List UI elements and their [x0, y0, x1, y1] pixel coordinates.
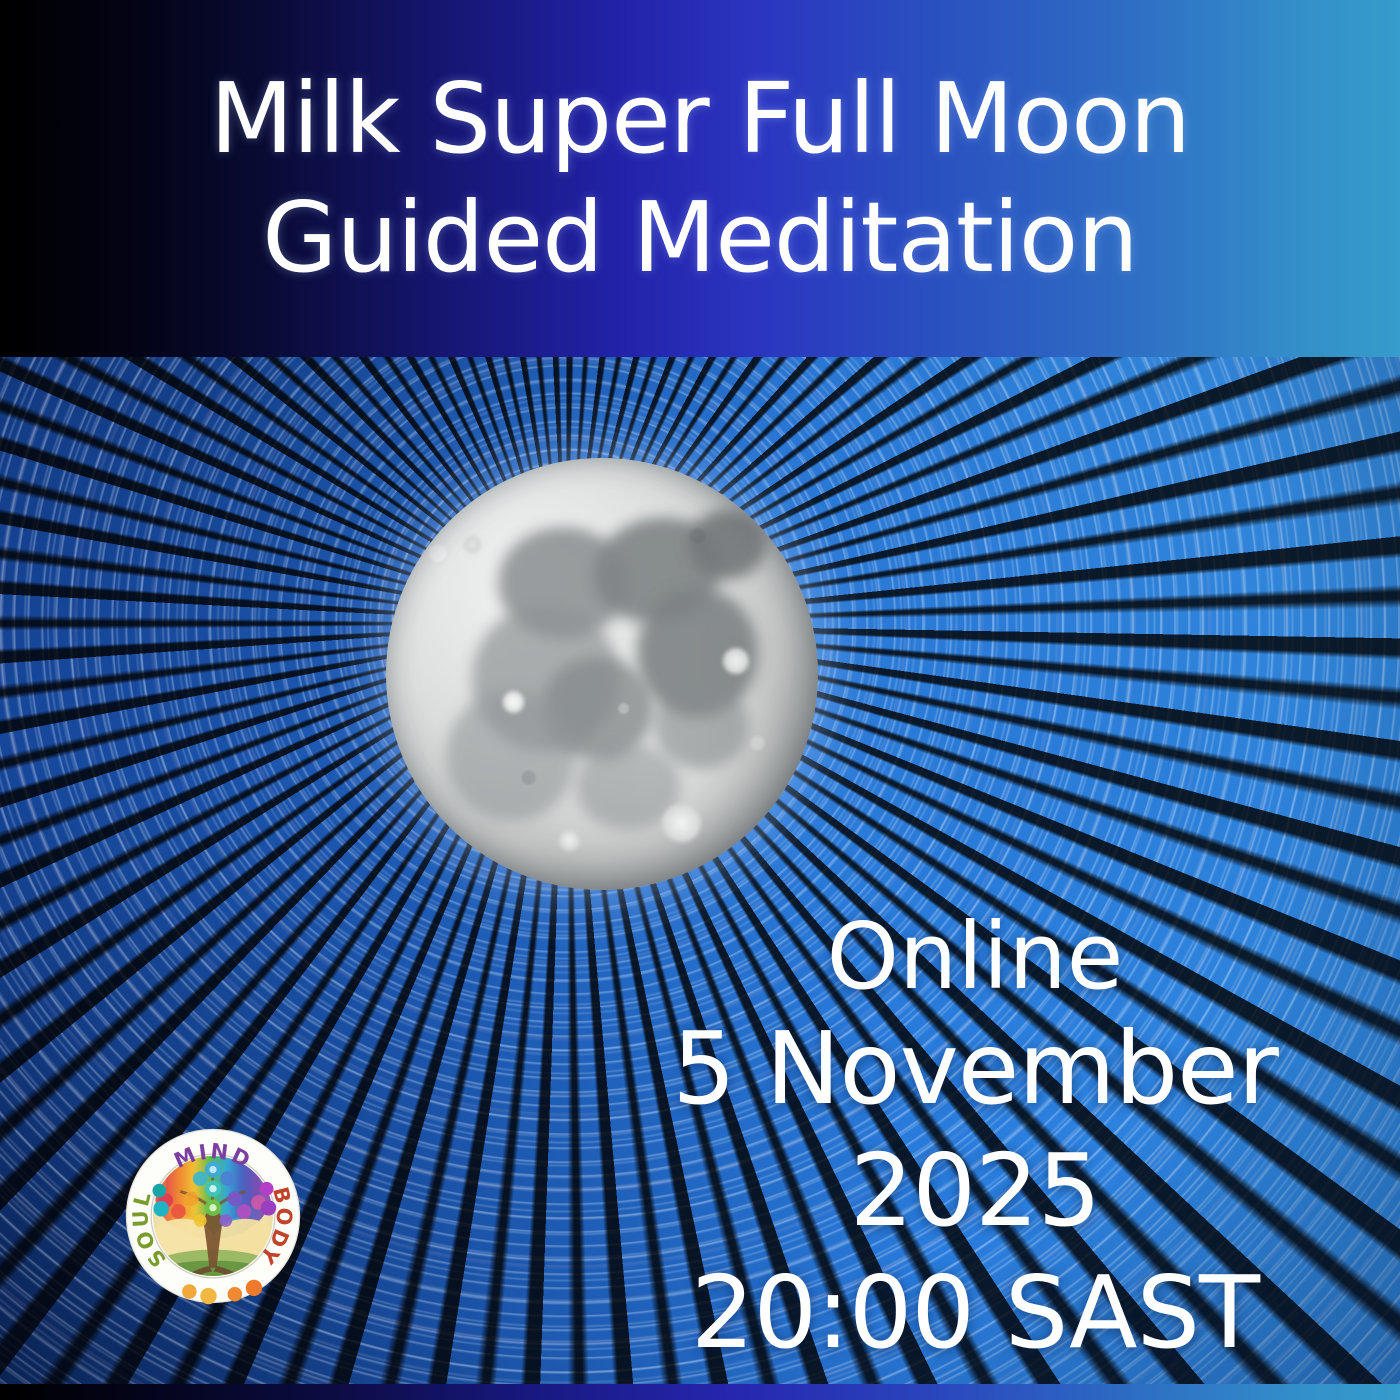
- moon-disc: [386, 458, 818, 890]
- full-moon: [386, 458, 818, 890]
- page-title-line-1: Milk Super Full Moon: [210, 60, 1190, 178]
- bottom-gradient-strip: [0, 1384, 1400, 1400]
- page-title-line-2: Guided Meditation: [262, 179, 1137, 297]
- moon-limb-shading: [386, 458, 818, 890]
- brand-logo[interactable]: MIND BODY SOUL: [122, 1122, 304, 1310]
- title-banner: Milk Super Full Moon Guided Meditation: [0, 0, 1400, 357]
- event-date: 5 November 2025: [560, 1008, 1390, 1252]
- event-time: 20:00 SAST: [560, 1252, 1390, 1374]
- event-format: Online: [560, 905, 1390, 1008]
- event-details-block: Online 5 November 2025 20:00 SAST: [560, 905, 1390, 1374]
- poster-canvas: Milk Super Full Moon Guided Meditation O…: [0, 0, 1400, 1400]
